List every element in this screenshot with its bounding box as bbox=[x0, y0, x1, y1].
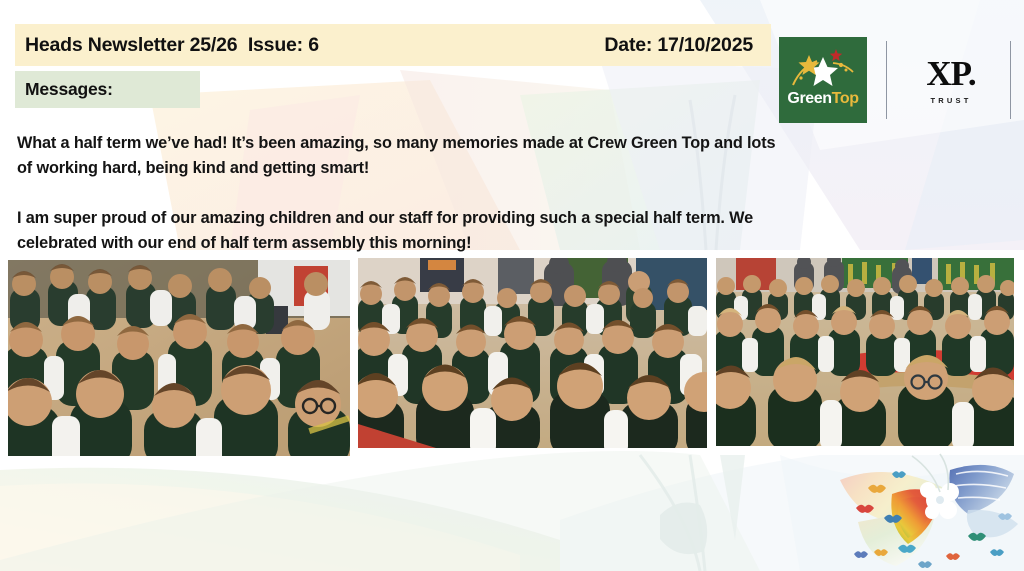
assembly-photo-2-image bbox=[358, 258, 707, 448]
logo-divider-right bbox=[1010, 41, 1011, 119]
messages-section-header: Messages: bbox=[15, 71, 200, 108]
logo-group: GreenTop XP. TRUST bbox=[779, 36, 1009, 124]
xp-trust-subtitle: TRUST bbox=[909, 96, 993, 105]
message-paragraph-1: What a half term we’ve had! It’s been am… bbox=[17, 131, 777, 181]
greentop-word-green: Green bbox=[787, 90, 831, 107]
greentop-stars-icon bbox=[779, 45, 867, 89]
greentop-word-top: Top bbox=[832, 90, 859, 107]
xp-trust-mark: XP. bbox=[909, 56, 993, 91]
message-paragraph-2: I am super proud of our amazing children… bbox=[17, 206, 777, 256]
rainbow-butterfly-graphic bbox=[828, 452, 1024, 571]
butterfly-icon bbox=[828, 452, 1024, 571]
issue-date: Date: 17/10/2025 bbox=[604, 34, 757, 57]
assembly-photo-2 bbox=[358, 258, 707, 448]
assembly-photo-1-image bbox=[8, 260, 350, 456]
xp-trust-logo: XP. TRUST bbox=[909, 56, 993, 105]
messages-body: What a half term we’ve had! It’s been am… bbox=[17, 131, 777, 256]
newsletter-header-bar: Heads Newsletter 25/26 Issue: 6 Date: 17… bbox=[15, 24, 771, 66]
newsletter-page: Heads Newsletter 25/26 Issue: 6 Date: 17… bbox=[0, 0, 1024, 571]
assembly-photo-3-image bbox=[716, 258, 1014, 446]
logo-divider-left bbox=[886, 41, 887, 119]
assembly-photo-3 bbox=[716, 258, 1014, 446]
page-title: Heads Newsletter 25/26 Issue: 6 bbox=[25, 34, 319, 57]
assembly-photo-1 bbox=[8, 260, 350, 456]
greentop-wordmark: GreenTop bbox=[779, 90, 867, 108]
greentop-logo: GreenTop bbox=[779, 37, 867, 123]
messages-label: Messages: bbox=[25, 79, 113, 100]
